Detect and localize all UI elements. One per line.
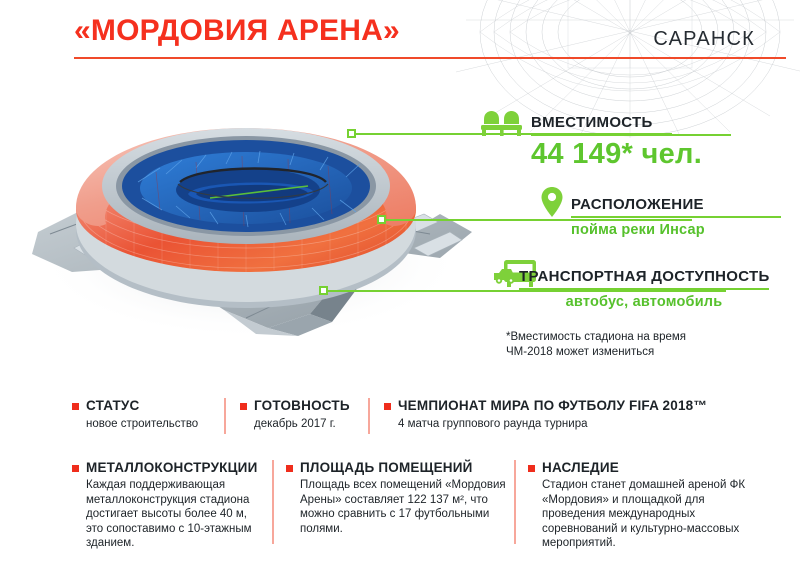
fact-separator-1: [224, 398, 226, 434]
bullet-square-icon: [240, 403, 247, 410]
city-label: САРАНСК: [653, 28, 755, 51]
infographic-canvas: «МОРДОВИЯ АРЕНА» САРАНСК: [0, 0, 800, 564]
bullet-square-icon: [528, 465, 535, 472]
callout-capacity-heading: ВМЕСТИМОСТЬ: [531, 114, 731, 131]
capacity-footnote-line1: *Вместимость стадиона на время: [506, 330, 686, 345]
capacity-footnote-line2: ЧМ-2018 может измениться: [506, 345, 686, 360]
fact-world-cup: ЧЕМПИОНАТ МИРА ПО ФУТБОЛУ FIFA 2018™ 4 м…: [384, 398, 707, 432]
fact-metal-structures-heading-row: МЕТАЛЛОКОНСТРУКЦИИ: [72, 460, 262, 475]
fact-world-cup-heading-row: ЧЕМПИОНАТ МИРА ПО ФУТБОЛУ FIFA 2018™: [384, 398, 707, 413]
fact-legacy: НАСЛЕДИЕ Стадион станет домашней ареной …: [528, 460, 743, 551]
fact-world-cup-body: 4 матча группового раунда турнира: [398, 417, 707, 432]
fact-floor-area-body: Площадь всех помещений «Мордовия Арены» …: [300, 478, 508, 536]
callout-capacity: ВМЕСТИМОСТЬ 44 149* чел.: [531, 114, 731, 171]
fact-legacy-body: Стадион станет домашней ареной ФК «Мордо…: [542, 478, 748, 551]
callout-transport: ТРАНСПОРТНАЯ ДОСТУПНОСТЬ автобус, автомо…: [519, 268, 769, 310]
page-title: «МОРДОВИЯ АРЕНА»: [74, 14, 400, 48]
connector-marker-capacity: [347, 129, 356, 138]
fact-status-heading-row: СТАТУС: [72, 398, 198, 413]
fact-separator-2: [368, 398, 370, 434]
bullet-square-icon: [72, 403, 79, 410]
stadium-seats-icon: [481, 110, 525, 138]
fact-readiness-heading-row: ГОТОВНОСТЬ: [240, 398, 350, 413]
bullet-square-icon: [286, 465, 293, 472]
callout-capacity-underline: [531, 134, 731, 136]
bullet-square-icon: [384, 403, 391, 410]
fact-readiness-body: декабрь 2017 г.: [254, 417, 350, 432]
capacity-footnote: *Вместимость стадиона на время ЧМ-2018 м…: [506, 330, 686, 360]
fact-separator-4: [514, 460, 516, 544]
callout-location-heading: РАСПОЛОЖЕНИЕ: [571, 196, 781, 213]
bullet-square-icon: [72, 465, 79, 472]
connector-marker-transport: [319, 286, 328, 295]
fact-floor-area-heading-row: ПЛОЩАДЬ ПОМЕЩЕНИЙ: [286, 460, 506, 475]
fact-readiness: ГОТОВНОСТЬ декабрь 2017 г.: [240, 398, 350, 432]
callout-location: РАСПОЛОЖЕНИЕ пойма реки Инсар: [571, 196, 781, 238]
fact-metal-structures-body: Каждая поддерживающая металлоконструкция…: [86, 478, 262, 551]
connector-marker-location: [377, 215, 386, 224]
callout-transport-value: автобус, автомобиль: [519, 294, 769, 310]
fact-status-body: новое строительство: [86, 417, 198, 432]
fact-floor-area-heading: ПЛОЩАДЬ ПОМЕЩЕНИЙ: [300, 460, 473, 475]
fact-status: СТАТУС новое строительство: [72, 398, 198, 432]
fact-metal-structures: МЕТАЛЛОКОНСТРУКЦИИ Каждая поддерживающая…: [72, 460, 262, 551]
callout-location-value: пойма реки Инсар: [571, 222, 781, 238]
map-pin-icon: [540, 186, 564, 218]
fact-legacy-heading-row: НАСЛЕДИЕ: [528, 460, 743, 475]
fact-floor-area: ПЛОЩАДЬ ПОМЕЩЕНИЙ Площадь всех помещений…: [286, 460, 506, 536]
fact-legacy-heading: НАСЛЕДИЕ: [542, 460, 619, 475]
callout-capacity-value: 44 149* чел.: [531, 138, 731, 171]
fact-readiness-heading: ГОТОВНОСТЬ: [254, 398, 350, 413]
fact-world-cup-heading: ЧЕМПИОНАТ МИРА ПО ФУТБОЛУ FIFA 2018™: [398, 398, 707, 413]
fact-status-heading: СТАТУС: [86, 398, 139, 413]
title-divider: [74, 57, 786, 59]
callout-transport-underline: [519, 288, 769, 290]
callout-location-underline: [571, 216, 781, 218]
fact-metal-structures-heading: МЕТАЛЛОКОНСТРУКЦИИ: [86, 460, 258, 475]
stadium-3d-render: [10, 82, 480, 342]
fact-separator-3: [272, 460, 274, 544]
callout-transport-heading: ТРАНСПОРТНАЯ ДОСТУПНОСТЬ: [519, 268, 769, 285]
